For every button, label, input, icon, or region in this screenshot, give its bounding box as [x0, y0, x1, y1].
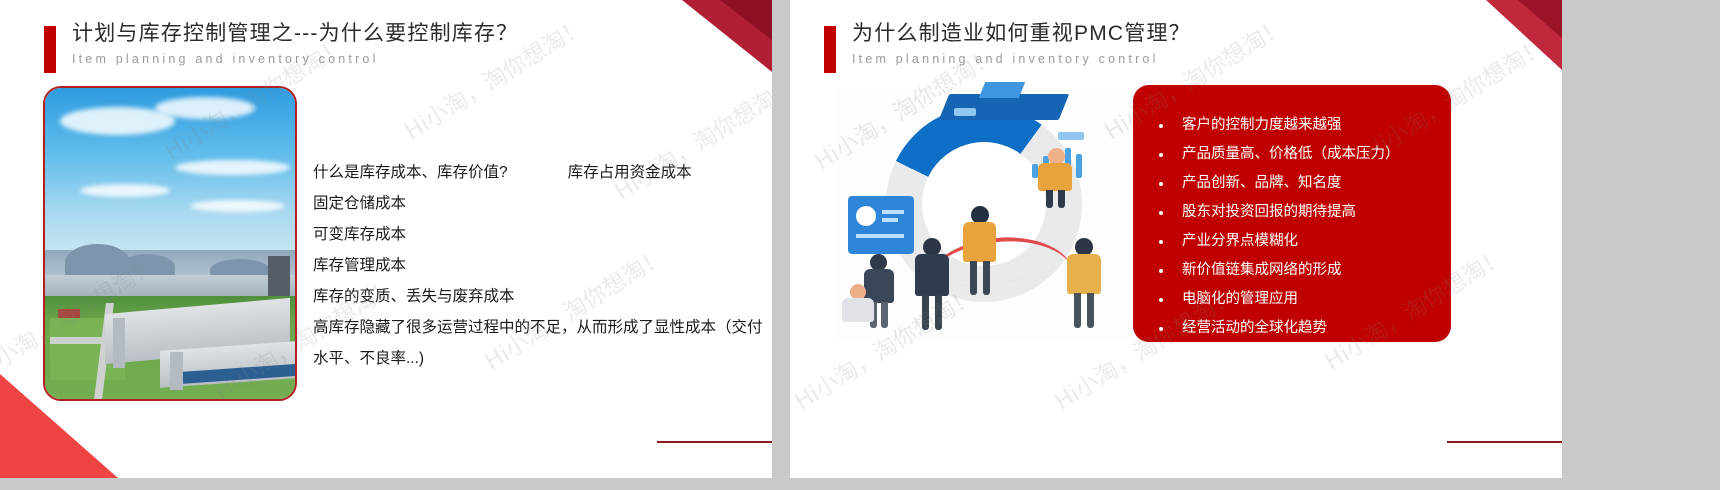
list-item: 经营活动的全球化趋势: [1159, 314, 1451, 343]
list-item: 固定仓储成本: [313, 188, 768, 219]
page-subtitle: Item planning and inventory control: [852, 49, 1191, 69]
list-item: 产品创新、品牌、知名度: [1159, 169, 1451, 198]
list-item: 客户的控制力度越来越强: [1159, 111, 1451, 140]
page-title: 计划与库存控制管理之---为什么要控制库存？: [72, 20, 518, 48]
bullet-dot-icon: [1159, 240, 1163, 244]
bullet-label: 新价值链集成网络的形成: [1182, 256, 1342, 285]
page-subtitle: Item planning and inventory control: [72, 49, 518, 69]
header-accent-bar: [824, 26, 836, 73]
footer-rule: [657, 441, 772, 443]
corner-ribbon-top-right-icon: [642, 0, 772, 108]
list-item: 库存的变质、丢失与废弃成本: [313, 281, 768, 312]
list-item-label: 什么是库存成本、库存价值?: [313, 164, 508, 181]
bullet-label: 客户的控制力度越来越强: [1182, 111, 1342, 140]
list-item: 产品质量高、价格低（成本压力）: [1159, 140, 1451, 169]
slide-header: 为什么制造业如何重视PMC管理？ Item planning and inven…: [824, 20, 1191, 73]
slide-header: 计划与库存控制管理之---为什么要控制库存？ Item planning and…: [44, 20, 518, 73]
slide-gap: [772, 0, 790, 490]
slide-pmc-management: 为什么制造业如何重视PMC管理？ Item planning and inven…: [790, 0, 1562, 478]
person-figure: [958, 206, 1002, 302]
page-title: 为什么制造业如何重视PMC管理？: [852, 20, 1191, 48]
list-item-label: 固定仓储成本: [313, 195, 406, 212]
bullet-label: 产品创新、品牌、知名度: [1182, 169, 1342, 198]
corner-ribbon-top-right-icon: [1442, 0, 1562, 100]
inventory-cost-paragraph: 高库存隐藏了很多运营过程中的不足，从而形成了显性成本（交付水平、不良率...): [313, 312, 768, 374]
inventory-cost-list: 什么是库存成本、库存价值?库存占用资金成本 固定仓储成本 可变库存成本 库存管理…: [313, 157, 768, 374]
person-figure: [910, 238, 956, 330]
person-figure: [1032, 148, 1080, 208]
bullet-dot-icon: [1159, 124, 1163, 128]
bullet-label: 股东对投资回报的期待提高: [1182, 198, 1356, 227]
list-item: 股东对投资回报的期待提高: [1159, 198, 1451, 227]
pmc-illustration: [836, 88, 1136, 338]
slide-inventory-control: 计划与库存控制管理之---为什么要控制库存？ Item planning and…: [0, 0, 772, 478]
list-item: 库存管理成本: [313, 250, 768, 281]
bullet-label: 经营活动的全球化趋势: [1182, 314, 1327, 343]
analytics-card-icon: [848, 196, 914, 254]
list-item-label: 库存管理成本: [313, 257, 406, 274]
list-item-label: 可变库存成本: [313, 226, 406, 243]
bullet-label: 产业分界点模糊化: [1182, 227, 1298, 256]
factory-photo: [43, 86, 297, 401]
bullet-dot-icon: [1159, 269, 1163, 273]
bullet-dot-icon: [1159, 153, 1163, 157]
bullet-label: 产品质量高、价格低（成本压力）: [1182, 140, 1400, 169]
bullet-dot-icon: [1159, 182, 1163, 186]
footer-rule: [1447, 441, 1562, 443]
pmc-bullet-panel: 客户的控制力度越来越强 产品质量高、价格低（成本压力） 产品创新、品牌、知名度 …: [1133, 85, 1451, 342]
bullet-label: 电脑化的管理应用: [1182, 285, 1298, 314]
list-item: 电脑化的管理应用: [1159, 285, 1451, 314]
person-figure: [1062, 238, 1108, 328]
person-figure: [836, 284, 880, 330]
slide-deck: 计划与库存控制管理之---为什么要控制库存？ Item planning and…: [0, 0, 1720, 490]
list-item: 产业分界点模糊化: [1159, 227, 1451, 256]
list-item: 什么是库存成本、库存价值?库存占用资金成本: [313, 157, 768, 188]
list-item: 新价值链集成网络的形成: [1159, 256, 1451, 285]
bullet-dot-icon: [1159, 327, 1163, 331]
bullet-dot-icon: [1159, 298, 1163, 302]
header-accent-bar: [44, 26, 56, 73]
laptop-icon: [979, 82, 1025, 98]
list-item-label: 库存的变质、丢失与废弃成本: [313, 288, 515, 305]
list-item-trailing: 库存占用资金成本: [568, 164, 692, 181]
bullet-dot-icon: [1159, 211, 1163, 215]
canvas-edge: [1562, 0, 1720, 490]
list-item: 可变库存成本: [313, 219, 768, 250]
